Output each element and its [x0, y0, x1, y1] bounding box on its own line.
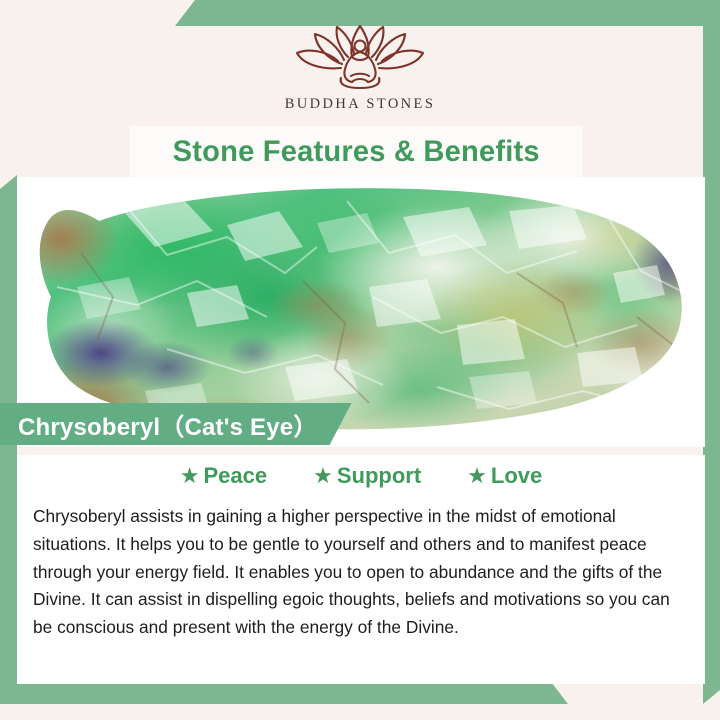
- benefit-item-support: ★ Support: [313, 463, 421, 489]
- title-banner: Stone Features & Benefits: [130, 126, 582, 177]
- benefit-label: Love: [491, 463, 542, 489]
- benefit-item-love: ★ Love: [467, 463, 542, 489]
- benefit-label: Peace: [203, 463, 267, 489]
- lotus-meditation-logo-icon: [285, 22, 435, 92]
- frame-right-foot-accent: [703, 690, 720, 704]
- benefit-item-peace: ★ Peace: [180, 463, 267, 489]
- page-title: Stone Features & Benefits: [172, 135, 539, 169]
- star-icon: ★: [180, 465, 200, 487]
- stone-description: Chrysoberyl assists in gaining a higher …: [33, 503, 679, 642]
- stone-name-label: Chrysoberyl（Cat's Eye）: [18, 407, 318, 442]
- benefits-list: ★ Peace ★ Support ★ Love: [17, 455, 705, 489]
- brand-header: BUDDHA STONES: [0, 0, 720, 128]
- benefit-label: Support: [337, 463, 421, 489]
- stone-name-badge: Chrysoberyl（Cat's Eye）: [0, 403, 352, 445]
- stone-info-card: BUDDHA STONES Stone Features & Benefits: [0, 0, 720, 720]
- stone-details-section: ★ Peace ★ Support ★ Love Chrysoberyl ass…: [17, 455, 705, 684]
- star-icon: ★: [467, 465, 487, 487]
- brand-name: BUDDHA STONES: [285, 96, 436, 113]
- star-icon: ★: [313, 465, 333, 487]
